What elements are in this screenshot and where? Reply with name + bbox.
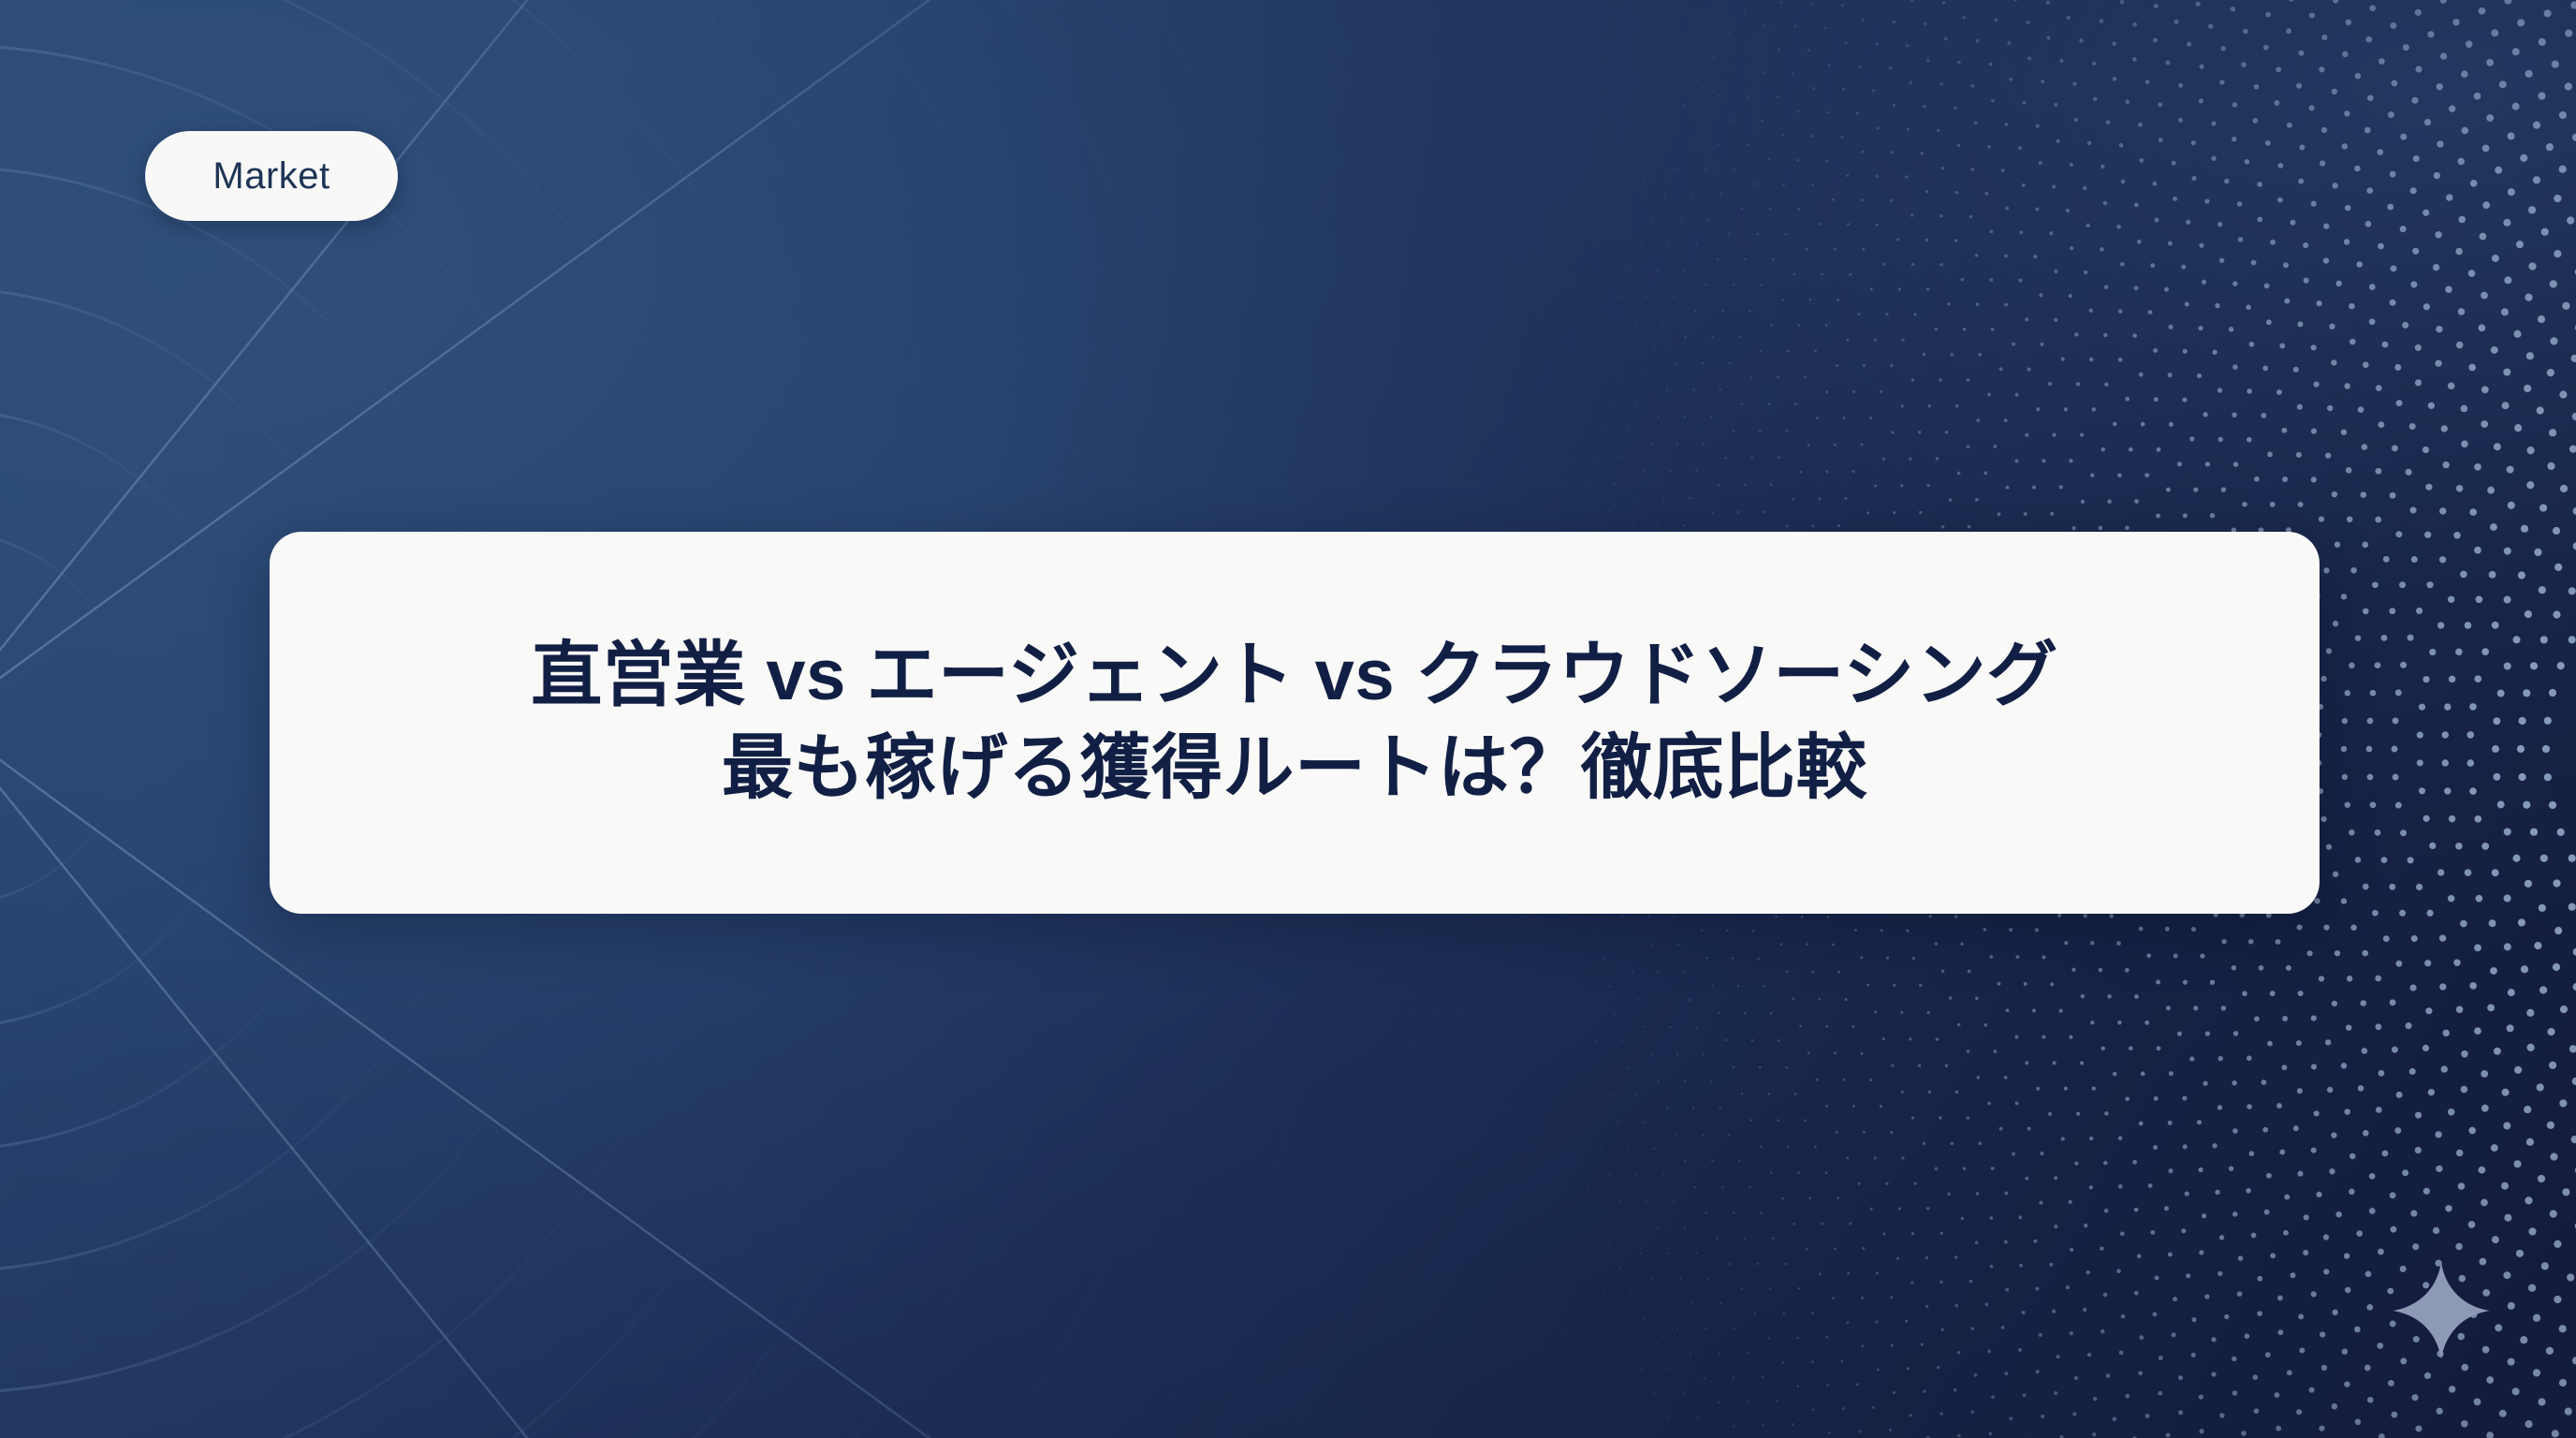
category-badge-label: Market: [212, 157, 329, 195]
title-line-1: 直営業 vs エージェント vs クラウドソーシング: [531, 630, 2058, 723]
category-badge[interactable]: Market: [145, 131, 398, 221]
slide-canvas: Market 直営業 vs エージェント vs クラウドソーシング 最も稼げる獲…: [0, 0, 2576, 1438]
sparkle-icon: [2391, 1260, 2492, 1361]
title-line-2: 最も稼げる獲得ルートは？徹底比較: [722, 723, 1867, 815]
title-card: 直営業 vs エージェント vs クラウドソーシング 最も稼げる獲得ルートは？徹…: [270, 532, 2320, 914]
